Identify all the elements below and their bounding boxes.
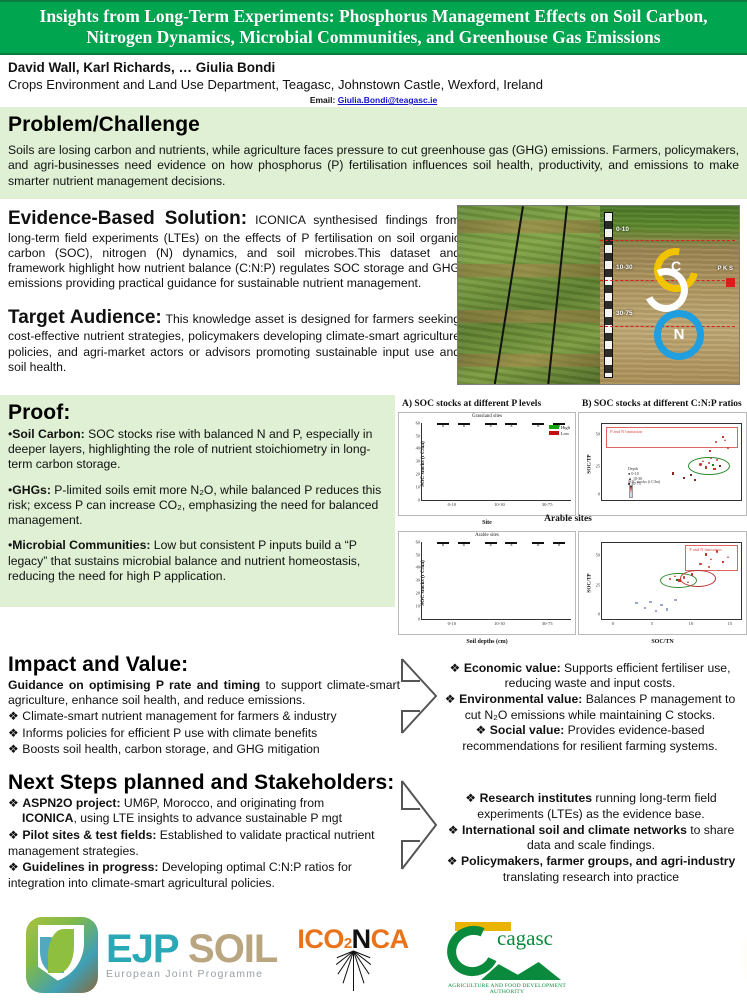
impact-value-economic: ❖ Economic value: Supports efficient fer… — [440, 661, 740, 692]
evidence-text-column: Evidence-Based Solution: ICONICA synthes… — [8, 207, 460, 375]
email-label: Email: — [310, 95, 336, 105]
problem-text: Soils are losing carbon and nutrients, w… — [8, 143, 739, 189]
arable-title: Arable sites — [399, 533, 575, 538]
legend-swatch-low — [549, 431, 559, 435]
poster-root: Insights from Long-Term Experiments: Pho… — [0, 0, 747, 1001]
impact-bullets: ❖ Climate-smart nutrient management for … — [8, 708, 408, 757]
section-impact-value: Impact and Value: Guidance on optimising… — [0, 649, 747, 769]
impact-value-environmental: ❖ Environmental value: Balances P manage… — [440, 692, 740, 723]
iconica-n: N — [352, 924, 371, 954]
bullet-mark: ❖ — [8, 796, 22, 810]
chart-grid: Grassland sites SOC stocks (t C/ha) 0 10… — [398, 412, 747, 637]
next-heading: Next Steps planned and Stakeholders: — [8, 771, 408, 795]
legend-label-low: Low — [561, 431, 569, 436]
email-line: Email: Giulia.Bondi@teagasc.ie — [8, 95, 739, 105]
nitrogen-label: N — [674, 326, 685, 343]
author-list: David Wall, Karl Richards, … Giulia Bond… — [8, 60, 739, 77]
impact-value-social: ❖ Social value: Provides evidence-based … — [440, 723, 740, 754]
next-item-aspn2o: ❖ ASPN2O project: UM6P, Morocco, and ori… — [8, 796, 408, 827]
next-label-3: Guidelines in progress: — [22, 860, 158, 874]
ejp-leaf-icon — [26, 917, 98, 993]
chart-grassland-boxplot: Grassland sites SOC stocks (t C/ha) 0 10… — [398, 412, 576, 516]
ytick: 30 — [416, 578, 422, 583]
scale-ruler-icon — [604, 212, 613, 378]
nitrogen-circle-icon: N — [654, 310, 704, 360]
grassland-title: Grassland sites — [399, 414, 575, 419]
scatter-top-axes: 0 25 50 P and N limitation Depth ● 0-10 … — [601, 423, 742, 501]
scatter-top-ylabel: SOC/TP — [587, 454, 593, 473]
xtick: 0-10 — [448, 500, 456, 507]
chart-a-caption: A) SOC stocks at different P levels — [398, 399, 582, 409]
bullet-mark: ❖ — [8, 860, 22, 874]
teagasc-mark-icon: cagasc — [447, 920, 567, 982]
impact-arrow-icon — [398, 657, 440, 735]
pks-marker-icon — [726, 278, 735, 287]
impact-lead-bold: Guidance on optimising P rate and timing — [8, 678, 260, 692]
iconica-ico: ICO — [297, 924, 344, 954]
section-evidence-audience: Evidence-Based Solution: ICONICA synthes… — [0, 199, 747, 395]
xtick: 30-75 — [542, 500, 553, 507]
logo-strip: EJP SOIL European Joint Programme ICO2NC… — [0, 893, 747, 1001]
affiliation: Crops Environment and Land Use Departmen… — [8, 77, 739, 94]
poster-title-bar: Insights from Long-Term Experiments: Pho… — [0, 0, 747, 55]
iconica-logo: ICO2NCA — [288, 924, 418, 997]
xtick: 0-10 — [448, 619, 456, 626]
field-experiment-photo-collage: 0-10 10-30 30-75 C N P K S — [457, 205, 740, 385]
xtick: 10-30 — [494, 500, 505, 507]
ytick: 10 — [416, 484, 422, 489]
iconica-ca: CA — [371, 924, 409, 954]
ytick: 40 — [416, 446, 422, 451]
problem-heading: Problem/Challenge — [8, 113, 739, 137]
ejp-soil-logo: EJP SOIL European Joint Programme — [26, 917, 277, 993]
stakeholder-networks: ❖ International soil and climate network… — [440, 823, 742, 855]
section-next-steps: Next Steps planned and Stakeholders: ❖ A… — [0, 769, 747, 879]
impact-environmental-label: Environmental value: — [459, 692, 582, 706]
evidence-heading: Evidence-Based Solution: — [8, 208, 247, 229]
next-text-1b: , using LTE insights to advance sustaina… — [73, 811, 342, 825]
depth-label-0-10: 0-10 — [616, 226, 629, 233]
chart-scatter-top: SOC/TP 0 25 50 P and N limitation Depth — [578, 412, 747, 516]
email-address[interactable]: Giulia.Bondi@teagasc.ie — [338, 95, 437, 105]
stakeholder-policymakers: ❖ Policymakers, farmer groups, and agri-… — [440, 854, 742, 886]
bullet-mark: ❖ — [465, 791, 479, 805]
bullet-mark: ❖ — [448, 823, 462, 837]
pks-label: P K S — [717, 266, 733, 272]
ejp-tagline: European Joint Programme — [106, 968, 277, 980]
impact-heading: Impact and Value: — [8, 653, 408, 677]
legend-item-low: Low — [549, 431, 570, 436]
decorative-swoosh — [557, 893, 747, 1001]
soil-text: SOIL — [188, 927, 277, 971]
next-left-column: Next Steps planned and Stakeholders: ❖ A… — [8, 771, 408, 892]
charts-region: A) SOC stocks at different P levels B) S… — [398, 397, 747, 637]
scatter-bottom-ylabel: SOC/TP — [587, 573, 593, 592]
limitation-annotation-box: P and N limitation — [606, 427, 738, 448]
evidence-paragraph: Evidence-Based Solution: ICONICA synthes… — [8, 207, 460, 292]
next-bold-iconica: ICONICA — [22, 811, 73, 825]
ytick: 50 — [416, 552, 422, 557]
limitation-label: P and N limitation — [610, 429, 642, 434]
next-text-1: UM6P, Morocco, and originating from — [121, 796, 325, 810]
impact-economic-label: Economic value: — [464, 661, 561, 675]
proof-label-1: Soil Carbon: — [12, 427, 84, 441]
legend-label-high: High — [561, 425, 570, 430]
scatter-xlabel: SOC/TN — [579, 639, 746, 645]
proof-label-3: Microbial Communities: — [12, 538, 150, 552]
proof-item-ghgs: •GHGs: P-limited soils emit more N₂O, wh… — [8, 483, 385, 529]
ytick: 0 — [418, 616, 422, 621]
ytick: 50 — [416, 433, 422, 438]
proof-label-2: GHGs: — [12, 483, 51, 497]
audience-heading: Target Audience: — [8, 307, 162, 328]
scatter-bottom-axes: 0 25 50 0 5 10 15 P and N limitation — [601, 542, 742, 620]
scatter-column: SOC/TP 0 25 50 P and N limitation Depth — [578, 412, 747, 637]
grassland-legend: High Low — [549, 425, 570, 437]
soc-colorbar — [629, 485, 633, 499]
next-steps-arrow-icon — [398, 779, 440, 871]
depth-line-0-10 — [600, 240, 735, 241]
bullet-mark: ❖ — [450, 661, 464, 675]
bullet-mark: ❖ — [8, 828, 22, 842]
stakeholder-research-institutes: ❖ Research institutes running long-term … — [440, 791, 742, 823]
proof-item-microbial: •Microbial Communities: Low but consiste… — [8, 538, 385, 584]
ytick: 0 — [418, 497, 422, 502]
legend-item-high: High — [549, 425, 570, 430]
carbon-label: C — [671, 258, 681, 274]
depth-label-10-30: 10-30 — [616, 264, 633, 271]
impact-bullet-1: ❖ Climate-smart nutrient management for … — [8, 708, 408, 724]
section-proof-and-charts: Proof: •Soil Carbon: SOC stocks rise wit… — [0, 395, 747, 649]
impact-right-column: ❖ Economic value: Supports efficient fer… — [440, 661, 740, 755]
iconica-sub2: 2 — [344, 935, 352, 952]
ytick: 30 — [416, 459, 422, 464]
stakeholder-label-1: Research institutes — [480, 791, 592, 805]
charts-middle-label: Arable sites — [508, 514, 628, 524]
ejp-wordmark: EJP SOIL European Joint Programme — [106, 930, 277, 980]
stakeholder-text-3: translating research into practice — [503, 870, 679, 884]
root-system-icon — [321, 951, 385, 997]
bullet-mark: ❖ — [447, 854, 461, 868]
proof-heading: Proof: — [8, 401, 385, 425]
authors-block: David Wall, Karl Richards, … Giulia Bond… — [0, 55, 747, 107]
impact-left-column: Impact and Value: Guidance on optimising… — [8, 653, 408, 758]
section-problem-challenge: Problem/Challenge Soils are losing carbo… — [0, 107, 747, 199]
next-label-2: Pilot sites & test fields: — [22, 828, 156, 842]
ytick: 20 — [416, 591, 422, 596]
xtick: 10-30 — [494, 619, 505, 626]
teagasc-logo: cagasc AGRICULTURE AND FOOD DEVELOPMENT … — [432, 920, 582, 995]
next-right-column: ❖ Research institutes running long-term … — [440, 791, 742, 886]
poster-title: Insights from Long-Term Experiments: Pho… — [16, 6, 731, 47]
legend-swatch-high — [549, 425, 559, 429]
aerial-field-photo — [458, 206, 600, 384]
bullet-mark: ❖ — [475, 723, 489, 737]
next-label-1: ASPN2O project: — [22, 796, 120, 810]
impact-bullet-3: ❖ Boosts soil health, carbon storage, an… — [8, 741, 408, 757]
cluster-ellipse-green — [688, 457, 730, 475]
ytick: 60 — [416, 539, 422, 544]
ytick: 10 — [416, 603, 422, 608]
depth-label-30-75: 30-75 — [616, 310, 633, 317]
teagasc-wordmark: cagasc — [497, 926, 553, 951]
proof-panel: Proof: •Soil Carbon: SOC stocks rise wit… — [0, 395, 395, 607]
impact-social-label: Social value: — [490, 723, 565, 737]
chart-arable-boxplot: Arable sites SOC stocks (t C/ha) 0 10 20… — [398, 531, 576, 635]
ytick: 20 — [416, 472, 422, 477]
audience-paragraph: Target Audience: This knowledge asset is… — [8, 306, 460, 376]
stakeholder-label-3: Policymakers, farmer groups, and agri-in… — [461, 854, 735, 868]
impact-bullet-2: ❖ Informs policies for efficient P use w… — [8, 725, 408, 741]
next-item-pilot: ❖ Pilot sites & test fields: Established… — [8, 828, 408, 859]
proof-text-2: P-limited soils emit more N₂O, while bal… — [8, 483, 381, 528]
evidence-spacer — [8, 294, 460, 306]
stakeholder-label-2: International soil and climate networks — [462, 823, 687, 837]
cluster-ellipse-red — [680, 570, 716, 587]
ejp-text: EJP — [106, 927, 178, 971]
arable-xlabel: Soil depths (cm) — [399, 639, 575, 645]
chart-captions-row: A) SOC stocks at different P levels B) S… — [398, 397, 747, 412]
next-text-1-cont: ICONICA, using LTE insights to advance s… — [8, 811, 408, 827]
next-item-guidelines: ❖ Guidelines in progress: Developing opt… — [8, 860, 408, 891]
ytick: 40 — [416, 565, 422, 570]
impact-lead: Guidance on optimising P rate and timing… — [8, 678, 400, 709]
teagasc-tagline: AGRICULTURE AND FOOD DEVELOPMENT AUTHORI… — [432, 983, 582, 995]
bullet-mark: ❖ — [445, 692, 459, 706]
xtick: 30-75 — [542, 619, 553, 626]
scatter-colorbar-title: SOC stocks (t C/ha) — [628, 479, 660, 484]
arable-axes: 0 10 20 30 40 50 60 0-10 10-30 30-75 — [421, 542, 571, 620]
proof-item-soil-carbon: •Soil Carbon: SOC stocks rise with balan… — [8, 427, 385, 473]
ytick: 60 — [416, 420, 422, 425]
chart-scatter-bottom: SOC/TP 0 25 50 0 5 10 15 P and N limitat… — [578, 531, 747, 635]
boxplot-column: Grassland sites SOC stocks (t C/ha) 0 10… — [398, 412, 576, 637]
chart-b-caption: B) SOC stocks at different C:N:P ratios — [582, 399, 747, 409]
